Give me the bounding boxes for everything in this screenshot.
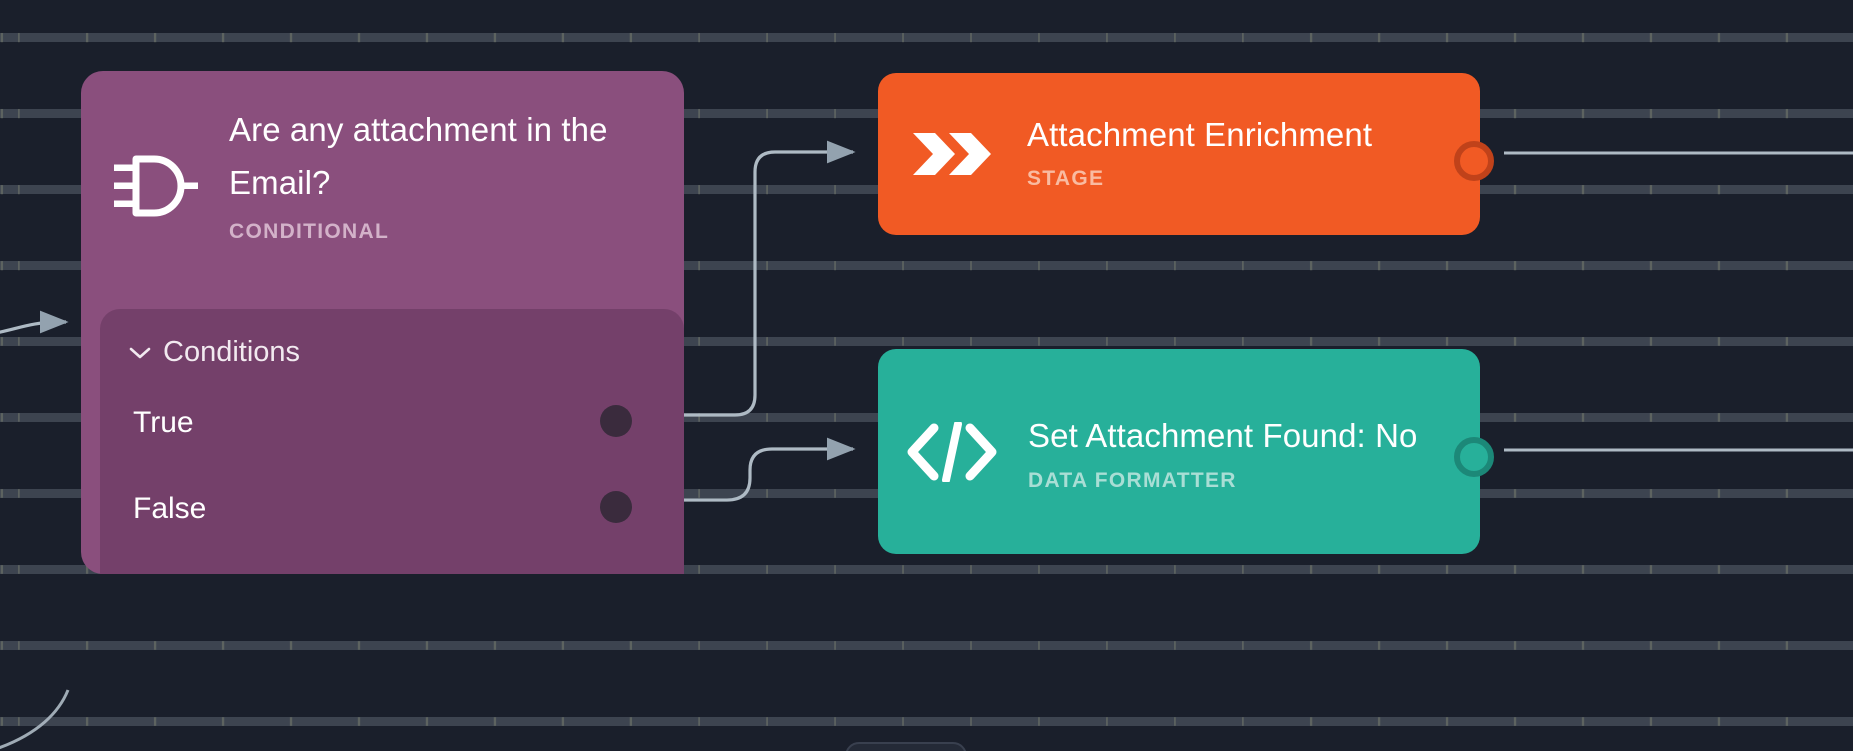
node-offscreen-partial[interactable]	[845, 742, 967, 751]
double-chevron-icon	[911, 131, 993, 177]
node-conditional[interactable]: Are any attachment in the Email? CONDITI…	[81, 71, 684, 574]
output-port-formatter[interactable]	[1454, 437, 1494, 477]
output-port-stage[interactable]	[1454, 141, 1494, 181]
node-formatter-text: Set Attachment Found: No DATA FORMATTER	[1028, 410, 1417, 493]
workflow-canvas[interactable]: Are any attachment in the Email? CONDITI…	[0, 0, 1853, 751]
node-conditional-text: Are any attachment in the Email? CONDITI…	[229, 104, 664, 244]
node-data-formatter[interactable]: Set Attachment Found: No DATA FORMATTER	[878, 349, 1480, 554]
conditions-toggle[interactable]: Conditions	[100, 309, 684, 369]
node-conditional-title: Are any attachment in the Email?	[229, 104, 664, 210]
logic-gate-icon	[114, 151, 198, 221]
chevron-down-icon	[129, 346, 151, 360]
code-brackets-icon	[906, 422, 998, 482]
node-conditional-subtitle: CONDITIONAL	[229, 220, 664, 244]
conditions-panel: Conditions True False	[100, 309, 684, 574]
edge-offscreen-bottom-left	[0, 690, 68, 751]
condition-row-true[interactable]: True	[100, 391, 684, 455]
output-port-false[interactable]	[600, 491, 632, 523]
node-stage[interactable]: Attachment Enrichment STAGE	[878, 73, 1480, 235]
condition-row-false[interactable]: False	[100, 477, 684, 541]
edge-upstream-to-conditional	[0, 322, 66, 336]
conditions-label: Conditions	[163, 336, 300, 369]
condition-label-true: True	[133, 406, 194, 440]
node-stage-text: Attachment Enrichment STAGE	[1027, 117, 1372, 191]
node-formatter-title: Set Attachment Found: No	[1028, 410, 1417, 463]
node-conditional-header: Are any attachment in the Email? CONDITI…	[81, 71, 684, 341]
output-port-true[interactable]	[600, 405, 632, 437]
node-stage-title: Attachment Enrichment	[1027, 117, 1372, 153]
node-formatter-subtitle: DATA FORMATTER	[1028, 469, 1417, 493]
condition-label-false: False	[133, 492, 206, 526]
node-stage-subtitle: STAGE	[1027, 167, 1372, 191]
